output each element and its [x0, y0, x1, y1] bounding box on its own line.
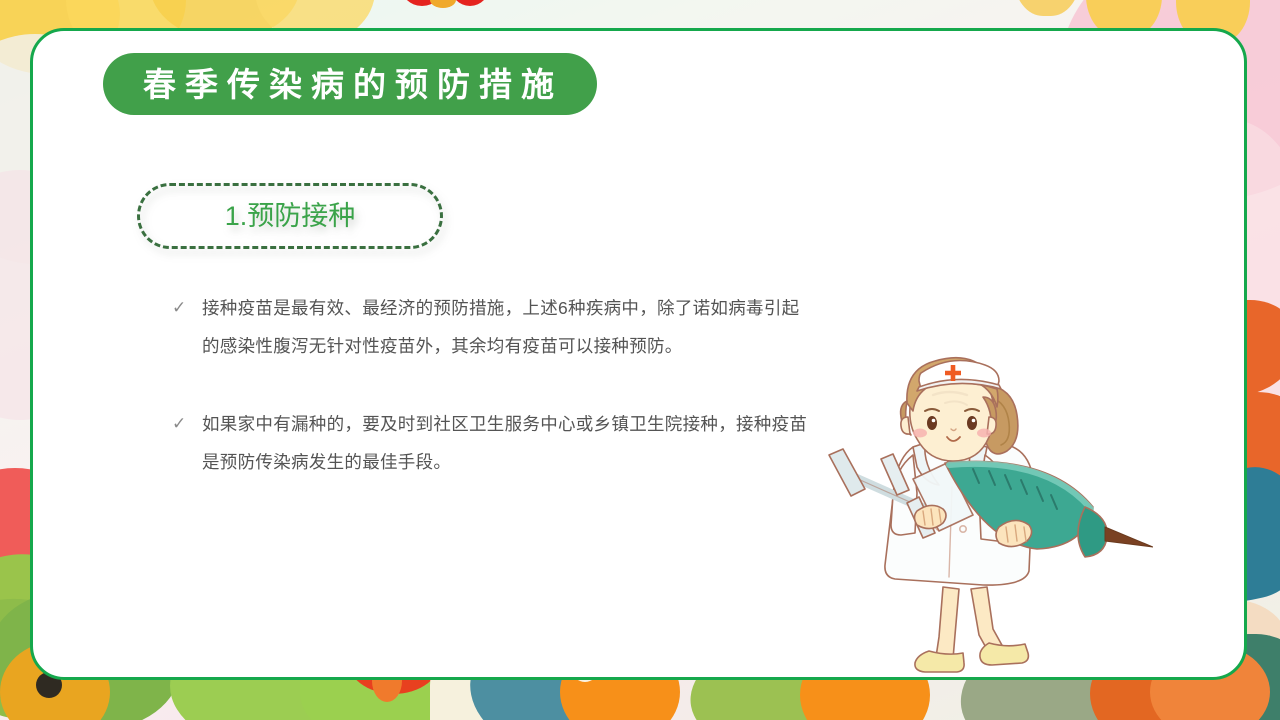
flower-red-top-center: [400, 0, 486, 24]
flower-yellow-top-right-3: [1014, 0, 1080, 16]
list-item-text: 如果家中有漏种的，要及时到社区卫生服务中心或乡镇卫生院接种，接种疫苗是预防传染病…: [202, 405, 808, 481]
bullet-list: ✓ 接种疫苗是最有效、最经济的预防措施，上述6种疾病中，除了诺如病毒引起的感染性…: [168, 289, 808, 521]
page-title: 春季传染病的预防措施: [137, 68, 563, 101]
nurse-with-syringe-illustration: [793, 351, 1153, 681]
content-card: 春季传染病的预防措施 1.预防接种 ✓ 接种疫苗是最有效、最经济的预防措施，上述…: [30, 28, 1247, 680]
list-item-text: 接种疫苗是最有效、最经济的预防措施，上述6种疾病中，除了诺如病毒引起的感染性腹泻…: [202, 289, 808, 365]
slide-title-pill: 春季传染病的预防措施: [103, 53, 597, 115]
list-item: ✓ 如果家中有漏种的，要及时到社区卫生服务中心或乡镇卫生院接种，接种疫苗是预防传…: [168, 405, 808, 481]
check-icon: ✓: [168, 289, 202, 327]
section-heading: 1.预防接种: [225, 203, 356, 230]
slide-canvas: 春季传染病的预防措施 1.预防接种 ✓ 接种疫苗是最有效、最经济的预防措施，上述…: [0, 0, 1280, 720]
check-icon: ✓: [168, 405, 202, 443]
list-item: ✓ 接种疫苗是最有效、最经济的预防措施，上述6种疾病中，除了诺如病毒引起的感染性…: [168, 289, 808, 365]
section-heading-pill: 1.预防接种: [137, 183, 443, 249]
